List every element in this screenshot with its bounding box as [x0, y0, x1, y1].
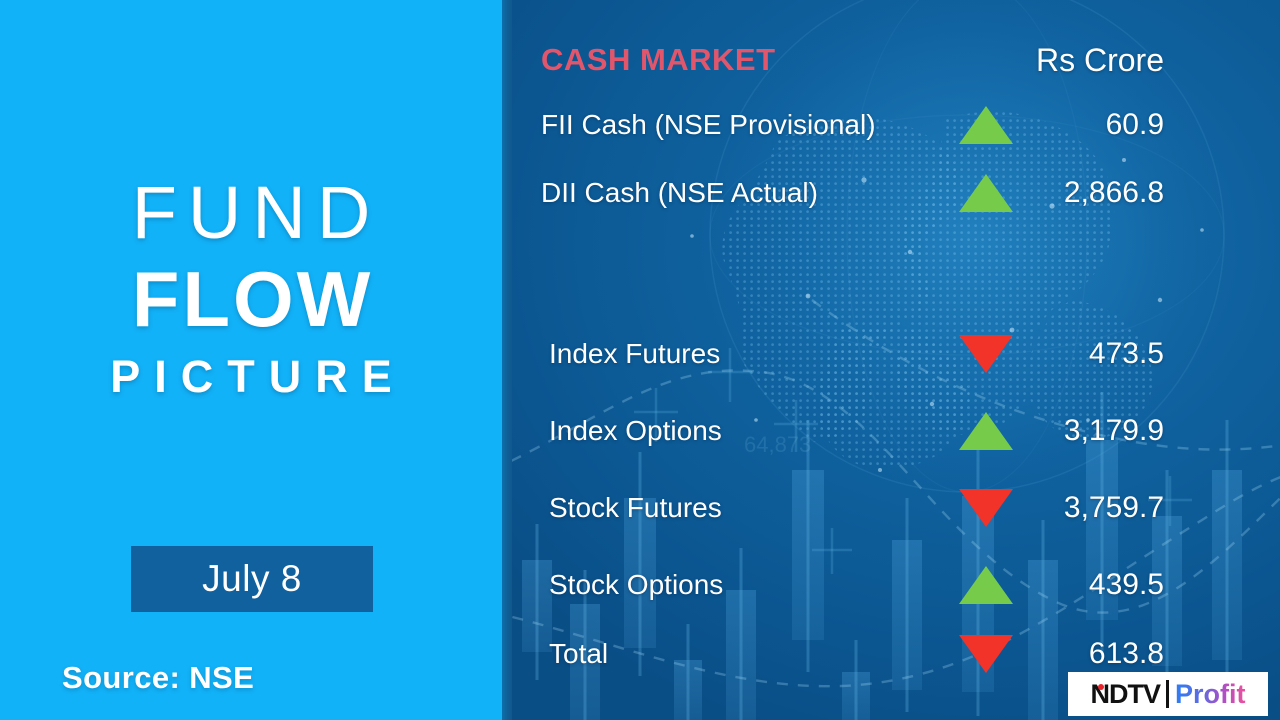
- row-value: 2,866.8: [900, 176, 1164, 210]
- row-label: DII Cash (NSE Actual): [541, 177, 818, 209]
- row-label: Index Options: [549, 415, 722, 447]
- table-row: Total 613.8: [512, 630, 1280, 678]
- brand-line-flow: FLOW: [0, 260, 502, 338]
- row-label: FII Cash (NSE Provisional): [541, 109, 876, 141]
- logo-red-dot: [1098, 684, 1104, 690]
- table-row: FII Cash (NSE Provisional) 60.9: [512, 101, 1280, 149]
- row-value: 60.9: [900, 108, 1164, 142]
- fund-flow-graphic: FUND FLOW PICTURE July 8 Source: NSE: [0, 0, 1280, 720]
- row-value: 3,759.7: [900, 491, 1164, 525]
- date-label: July 8: [202, 558, 302, 600]
- unit-label-rs-crore: Rs Crore: [900, 42, 1164, 79]
- table-row: Index Futures 473.5: [512, 330, 1280, 378]
- row-value: 473.5: [900, 337, 1164, 371]
- logo-separator-bar: [1166, 680, 1169, 708]
- row-value: 3,179.9: [900, 414, 1164, 448]
- section-title-cash-market: CASH MARKET: [541, 42, 776, 78]
- row-label: Index Futures: [549, 338, 720, 370]
- row-label: Stock Futures: [549, 492, 722, 524]
- left-branding-panel: FUND FLOW PICTURE July 8 Source: NSE: [0, 0, 502, 720]
- data-panel: 64,873 CASH MARKET Rs Crore FII Cash (NS…: [512, 0, 1280, 720]
- table-row: Stock Options 439.5: [512, 561, 1280, 609]
- table-row: DII Cash (NSE Actual) 2,866.8: [512, 169, 1280, 217]
- row-value: 613.8: [900, 637, 1164, 671]
- logo-profit-text: Profit: [1175, 681, 1246, 708]
- row-value: 439.5: [900, 568, 1164, 602]
- row-label: Stock Options: [549, 569, 723, 601]
- table-row: Stock Futures 3,759.7: [512, 484, 1280, 532]
- row-label: Total: [549, 638, 608, 670]
- date-badge: July 8: [131, 546, 373, 612]
- source-label: Source: NSE: [62, 660, 254, 696]
- table-row: Index Options 3,179.9: [512, 407, 1280, 455]
- brand-title: FUND FLOW PICTURE: [0, 176, 502, 399]
- brand-line-fund: FUND: [0, 176, 502, 250]
- ndtv-profit-logo: NDTV Profit: [1068, 672, 1268, 716]
- panel-divider: [502, 0, 512, 720]
- brand-line-picture: PICTURE: [0, 354, 502, 399]
